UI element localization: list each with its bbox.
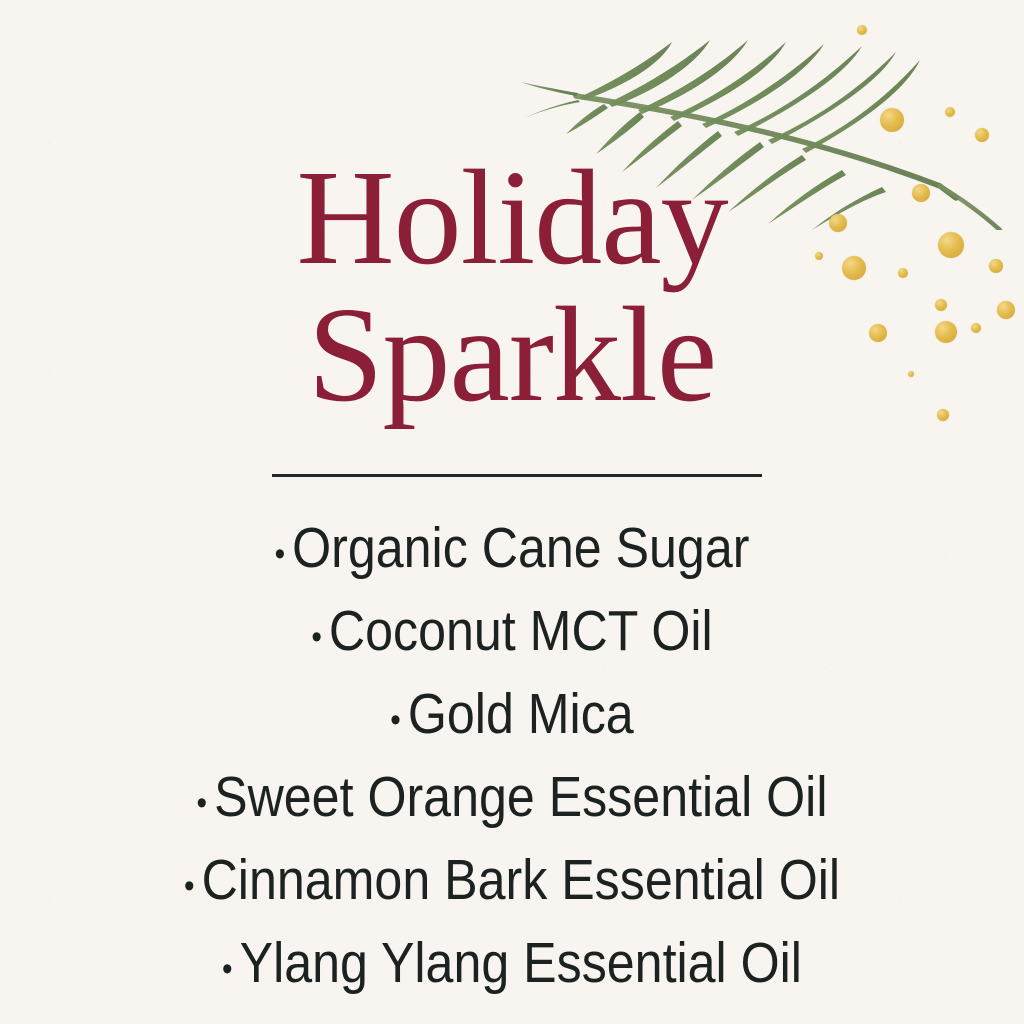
list-item-label: Cinnamon Bark Essential Oil bbox=[202, 848, 840, 912]
title-line-sparkle: Sparkle bbox=[0, 289, 1024, 422]
page-title: Holiday Sparkle bbox=[0, 152, 1024, 423]
title-line-holiday: Holiday bbox=[0, 152, 1024, 285]
list-item-label: Coconut MCT Oil bbox=[329, 599, 713, 663]
list-item: •Organic Cane Sugar bbox=[61, 510, 962, 593]
bullet-icon: • bbox=[311, 599, 322, 676]
bullet-icon: • bbox=[275, 516, 286, 593]
list-item: •Gold Mica bbox=[61, 676, 962, 759]
glitter-dot-icon bbox=[975, 128, 989, 142]
list-item-label: Ylang Ylang Essential Oil bbox=[240, 931, 802, 995]
ingredient-card: Holiday Sparkle •Organic Cane Sugar•Coco… bbox=[0, 0, 1024, 1024]
list-item: •Cinnamon Bark Essential Oil bbox=[61, 842, 962, 925]
ingredient-list: •Organic Cane Sugar•Coconut MCT Oil•Gold… bbox=[0, 510, 1024, 1008]
bullet-icon: • bbox=[197, 765, 208, 842]
glitter-dot-icon bbox=[945, 107, 955, 117]
list-item: •Ylang Ylang Essential Oil bbox=[61, 925, 962, 1008]
glitter-dot-icon bbox=[857, 25, 867, 35]
list-item: •Coconut MCT Oil bbox=[61, 593, 962, 676]
list-item-label: Organic Cane Sugar bbox=[292, 516, 749, 580]
bullet-icon: • bbox=[222, 931, 233, 1008]
list-item-label: Sweet Orange Essential Oil bbox=[214, 765, 827, 829]
list-item-label: Gold Mica bbox=[408, 682, 634, 746]
divider bbox=[272, 474, 762, 477]
glitter-dot-icon bbox=[880, 108, 904, 132]
bullet-icon: • bbox=[184, 848, 195, 925]
list-item: •Sweet Orange Essential Oil bbox=[61, 759, 962, 842]
bullet-icon: • bbox=[390, 682, 401, 759]
